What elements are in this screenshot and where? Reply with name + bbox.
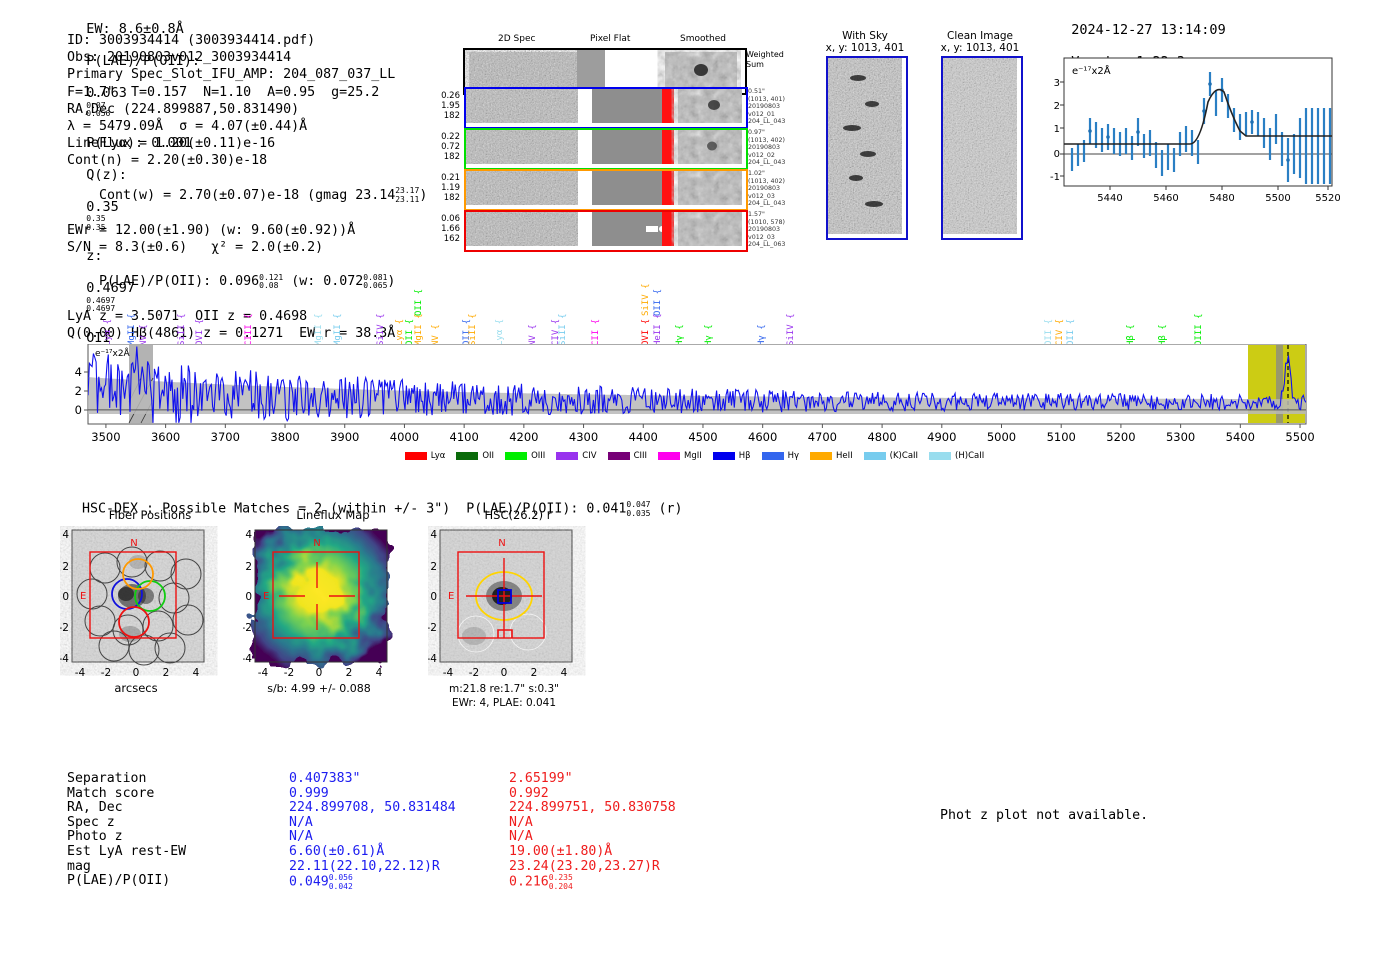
match-row-value-2: 0.2160.2350.204	[509, 874, 573, 891]
full-spectrum-chart[interactable]: Lyα {MgII {NV {SiII {OVI {CIII {MgII {Mg…	[0, 282, 1400, 467]
info-id: ID: 3003934414 (3003934414.pdf)	[67, 32, 427, 49]
line-marker-oiii: OIII {	[1194, 312, 1204, 346]
svg-text:5480: 5480	[1209, 193, 1234, 204]
fiber-row-left-stats: 0.06 1.66 162	[430, 214, 460, 244]
svg-text:2: 2	[346, 667, 353, 679]
compass-n-label: N	[313, 538, 320, 549]
match-row-value-1: 0.999	[289, 787, 509, 802]
svg-text:0: 0	[75, 403, 82, 417]
legend-swatch	[456, 452, 478, 460]
svg-text:4: 4	[561, 667, 568, 679]
svg-text:0: 0	[316, 667, 323, 679]
svg-text:3: 3	[1054, 78, 1060, 89]
spec2d-col-title-pixelflat: Pixel Flat	[590, 34, 630, 44]
match-table-row: Photo zN/AN/A	[67, 830, 676, 845]
svg-text:5520: 5520	[1315, 193, 1340, 204]
svg-text:3500: 3500	[91, 430, 120, 444]
compass-e-label: E	[263, 591, 269, 602]
fiber-row-meta: 0.51" (1013, 401) 20190803 v012_01 204_L…	[748, 88, 785, 126]
match-row-value-1: 0.407383"	[289, 772, 509, 787]
svg-text:0: 0	[501, 667, 508, 679]
panel-xlabel: arcsecs	[114, 681, 157, 695]
svg-text:-2: -2	[101, 667, 111, 679]
fiber-row-left-stats: 0.21 1.19 182	[430, 173, 460, 203]
svg-text:-2: -2	[284, 667, 294, 679]
match-table-row: RA, Dec224.899708, 50.831484224.899751, …	[67, 801, 676, 816]
svg-text:0: 0	[245, 591, 252, 603]
match-row-value-1: 224.899708, 50.831484	[289, 801, 509, 816]
line-fit-unit-label: e⁻¹⁷x2Å	[1072, 64, 1111, 77]
spectrum-legend: LyαOIIOIIICIVCIIIMgIIHβHγHeII(K)CaII(H)C…	[0, 445, 1400, 464]
svg-text:4800: 4800	[867, 430, 896, 444]
spec2d-col-title-smoothed: Smoothed	[680, 34, 726, 44]
compass-n-label: N	[498, 538, 505, 549]
match-row-key: Photo z	[67, 830, 289, 845]
svg-text:2: 2	[75, 384, 82, 398]
match-row-key: Spec z	[67, 816, 289, 831]
svg-text:-1: -1	[1050, 172, 1060, 183]
svg-text:4100: 4100	[450, 430, 479, 444]
legend-swatch	[608, 452, 630, 460]
panel-lineflux-map[interactable]: Lineflux Map N E 420 -2-4	[243, 508, 423, 716]
svg-text:0: 0	[62, 591, 69, 603]
line-marker-nv: NV {	[139, 312, 149, 346]
cutout-subtitle: x, y: 1013, 401	[815, 42, 915, 54]
svg-text:4600: 4600	[748, 430, 777, 444]
match-row-value-1: 22.11(22.10,22.12)R	[289, 860, 509, 875]
svg-text:-2: -2	[243, 622, 252, 634]
match-row-value-1: 6.60(±0.61)Å	[289, 845, 509, 860]
match-row-value-2: 19.00(±1.80)Å	[509, 845, 612, 860]
info-ewr: EWr = 12.00(±1.90) (w: 9.60(±0.92))Å	[67, 222, 427, 239]
svg-text:0: 0	[430, 591, 437, 603]
line-marker-siiv: SiIV {	[376, 312, 386, 346]
svg-text:2: 2	[245, 561, 252, 573]
svg-text:4400: 4400	[629, 430, 658, 444]
weighted-sum-image	[465, 50, 741, 89]
cutout-with-sky[interactable]: With Sky x, y: 1013, 401	[815, 30, 915, 240]
line-marker-mgii: MgII {	[314, 312, 324, 346]
match-table-row: mag22.11(22.10,22.12)R23.24(23.20,23.27)…	[67, 860, 676, 875]
match-row-key: Est LyA rest-EW	[67, 845, 289, 860]
legend-swatch	[864, 452, 886, 460]
legend-label: (K)CaII	[890, 451, 918, 461]
legend-label: MgII	[684, 451, 702, 461]
svg-text:5500: 5500	[1285, 430, 1314, 444]
legend-swatch	[810, 452, 832, 460]
match-table: Separation0.407383"2.65199"Match score0.…	[67, 772, 676, 891]
line-marker-mgii: MgII {	[127, 312, 137, 346]
fiber-row-image	[464, 169, 748, 211]
svg-text:5400: 5400	[1226, 430, 1255, 444]
legend-label: Hγ	[788, 451, 799, 461]
svg-text:-4: -4	[428, 653, 437, 665]
line-marker-lyα: Lyα {	[495, 312, 505, 346]
legend-item-(h)caii: (H)CaII	[929, 451, 984, 461]
svg-text:4300: 4300	[569, 430, 598, 444]
fiber-positions-image: N E 420 -2-4 -4-20 24 arcsecs	[60, 526, 240, 716]
fiber-row-meta: 1.57" (1010, 578) 20190803 v012_03 204_L…	[748, 211, 785, 249]
fiber-row-meta: 0.97" (1013, 402) 20190803 v012_02 204_L…	[748, 129, 785, 167]
compass-n-label: N	[130, 538, 137, 549]
legend-swatch	[405, 452, 427, 460]
legend-item-hγ: Hγ	[762, 451, 799, 461]
svg-text:-4: -4	[75, 667, 86, 679]
cutout-subtitle: x, y: 1013, 401	[930, 42, 1030, 54]
match-row-value-2: 0.992	[509, 787, 549, 802]
legend-label: Hβ	[739, 451, 751, 461]
legend-item-oii: OII	[456, 451, 494, 461]
svg-text:-2: -2	[469, 667, 479, 679]
svg-text:4: 4	[245, 529, 252, 541]
panel-fiber-positions[interactable]: Fiber Positions N E	[60, 508, 240, 716]
match-row-key: Match score	[67, 787, 289, 802]
svg-text:2: 2	[430, 561, 437, 573]
match-row-value-2: N/A	[509, 830, 533, 845]
panel-xlabel2: EWr: 4, PLAE: 0.041	[452, 697, 556, 709]
svg-text:2: 2	[62, 561, 69, 573]
legend-label: Lyα	[431, 451, 446, 461]
legend-item-oiii: OIII	[505, 451, 545, 461]
timestamp: 2024-12-27 13:14:09	[1071, 22, 1225, 38]
match-row-key: Separation	[67, 772, 289, 787]
line-marker-oii: OII {	[414, 282, 424, 316]
info-radec: RA,Dec (224.899887,50.831490)	[67, 101, 427, 118]
svg-text:4: 4	[430, 529, 437, 541]
line-marker-mgii: MgII {	[414, 312, 424, 346]
info-lineflux: LineFlux = 1.20(±0.11)e-16	[67, 135, 427, 152]
svg-text:3800: 3800	[270, 430, 299, 444]
line-marker-hγ: Hγ {	[704, 312, 714, 346]
info-sn-chi2: S/N = 8.3(±0.6) χ² = 2.0(±0.2)	[67, 239, 427, 256]
line-marker-nv: NV {	[431, 312, 441, 346]
compass-e-label: E	[448, 591, 454, 602]
line-marker-oii: OII {	[1066, 312, 1076, 346]
legend-item-mgii: MgII	[658, 451, 702, 461]
panel-xlabel: m:21.8 re:1.7" s:0.3"	[449, 683, 559, 695]
svg-text:5200: 5200	[1106, 430, 1135, 444]
fiber-row-image	[464, 210, 748, 252]
emission-line-markers: Lyα {MgII {NV {SiII {OVI {CIII {MgII {Mg…	[0, 282, 1400, 350]
fiber-row-left-stats: 0.22 0.72 182	[430, 132, 460, 162]
line-marker-siiv: SiIV {	[786, 312, 796, 346]
line-marker-civ: CIV {	[1055, 312, 1065, 346]
match-table-row: Match score0.9990.992	[67, 787, 676, 802]
svg-text:5100: 5100	[1047, 430, 1076, 444]
line-marker-siii: SiII {	[468, 312, 478, 346]
match-row-value-2: 23.24(23.20,23.27)R	[509, 860, 660, 875]
legend-label: OIII	[531, 451, 545, 461]
cutout-title: With Sky	[815, 30, 915, 42]
svg-text:2: 2	[531, 667, 538, 679]
legend-swatch	[658, 452, 680, 460]
svg-text:5300: 5300	[1166, 430, 1195, 444]
line-marker-lyα: Lyα {	[103, 312, 113, 346]
line-marker-mgii: MgII {	[333, 312, 343, 346]
lineflux-map-image: N E 420 -2-4 -4-20 24 s/b: 4.99 +/- 0.08…	[243, 526, 423, 716]
match-row-value-1: N/A	[289, 816, 509, 831]
panel-hsc-r[interactable]: HSC(26.2) r N E 420 -2-4 -4-20 24 m:21.8…	[428, 508, 608, 726]
line-marker-nv: NV {	[528, 312, 538, 346]
spec2d-col-title-2dspec: 2D Spec	[498, 34, 535, 44]
line-marker-oii: OII {	[653, 282, 663, 316]
svg-text:-4: -4	[258, 667, 269, 679]
svg-text:-4: -4	[243, 653, 252, 665]
legend-swatch	[556, 452, 578, 460]
svg-text:0: 0	[133, 667, 140, 679]
match-table-row: Separation0.407383"2.65199"	[67, 772, 676, 787]
match-row-value-2: N/A	[509, 816, 533, 831]
info-obs: Obs: 20190803v012_3003934414	[67, 49, 427, 66]
line-marker-ovi: OVI {	[195, 312, 205, 346]
hsc-r-image: N E 420 -2-4 -4-20 24 m:21.8 re:1.7" s:0…	[428, 526, 608, 726]
panel-title: Fiber Positions	[60, 508, 240, 522]
match-row-key: mag	[67, 860, 289, 875]
line-marker-siiv: SiIV {	[641, 282, 651, 316]
svg-text:2: 2	[163, 667, 170, 679]
svg-text:-4: -4	[60, 653, 69, 665]
info-cont-n: Cont(n) = 2.20(±0.30)e-18	[67, 152, 427, 169]
match-table-row: Spec zN/AN/A	[67, 816, 676, 831]
svg-text:-4: -4	[443, 667, 454, 679]
svg-text:0: 0	[1054, 149, 1060, 160]
cutout-clean-image[interactable]: Clean Image x, y: 1013, 401	[930, 30, 1030, 240]
legend-item-civ: CIV	[556, 451, 596, 461]
compass-e-label: E	[80, 591, 86, 602]
line-fit-svg: 32 10-1 54405460 548055005520	[1040, 56, 1340, 221]
svg-text:2: 2	[1054, 101, 1060, 112]
match-row-key: P(LAE)/P(OII)	[67, 874, 289, 891]
legend-item-ciii: CIII	[608, 451, 647, 461]
svg-text:4: 4	[75, 365, 82, 379]
fiber-row-image	[464, 87, 748, 129]
legend-swatch	[505, 452, 527, 460]
legend-item-hβ: Hβ	[713, 451, 751, 461]
svg-text:4700: 4700	[808, 430, 837, 444]
svg-text:4: 4	[376, 667, 383, 679]
info-lambda: λ = 5479.09Å σ = 4.07(±0.44)Å	[67, 118, 427, 135]
info-primary-spec: Primary Spec_Slot_IFU_AMP: 204_087_037_L…	[67, 66, 427, 83]
cutout-title: Clean Image	[930, 30, 1030, 42]
line-marker-ovi: OVI {	[641, 312, 651, 346]
match-row-value-1: 0.0490.0560.042	[289, 874, 509, 891]
line-marker-hγ: Hγ {	[757, 312, 767, 346]
fiber-row-image	[464, 128, 748, 170]
legend-label: CIV	[582, 451, 596, 461]
svg-text:4: 4	[193, 667, 200, 679]
svg-text:-2: -2	[428, 622, 437, 634]
line-marker-siii: SiII {	[558, 312, 568, 346]
match-row-value-2: 2.65199"	[509, 772, 573, 787]
svg-text:4200: 4200	[509, 430, 538, 444]
panel-title: Lineflux Map	[243, 508, 423, 522]
line-marker-siii: SiII {	[177, 312, 187, 346]
svg-text:5460: 5460	[1153, 193, 1178, 204]
svg-text:4900: 4900	[927, 430, 956, 444]
svg-text:3600: 3600	[151, 430, 180, 444]
legend-item-heii: HeII	[810, 451, 853, 461]
line-marker-cii: CII {	[591, 312, 601, 346]
svg-text:4000: 4000	[390, 430, 419, 444]
svg-text:-2: -2	[60, 622, 69, 634]
legend-swatch	[762, 452, 784, 460]
svg-text:5000: 5000	[987, 430, 1016, 444]
line-fit-plot[interactable]: 32 10-1 54405460 548055005520	[1040, 56, 1340, 221]
legend-item-lyα: Lyα	[405, 451, 446, 461]
photz-unavailable-message: Phot z plot not available.	[940, 808, 1148, 823]
line-marker-lyα: Lyα {	[395, 312, 405, 346]
line-marker-ciii: CIII {	[244, 312, 254, 346]
match-row-value-2: 224.899751, 50.830758	[509, 801, 676, 816]
legend-label: CIII	[634, 451, 647, 461]
svg-text:3700: 3700	[211, 430, 240, 444]
legend-swatch	[929, 452, 951, 460]
spectrum-unit-label: e⁻¹⁷x2Å	[95, 347, 131, 359]
weighted-sum-label: Weighted Sum	[746, 50, 784, 70]
svg-text:1: 1	[1054, 124, 1060, 135]
panel-xlabel: s/b: 4.99 +/- 0.088	[267, 682, 371, 695]
info-seeing: F=1.7" T=0.157 N=1.10 A=0.95 g=25.2	[67, 84, 427, 101]
legend-label: OII	[482, 451, 494, 461]
legend-label: (H)CaII	[955, 451, 984, 461]
info-cont-w: Cont(w) = 2.70(±0.07)e-18 (gmag 23.1423.…	[67, 170, 427, 222]
legend-swatch	[713, 452, 735, 460]
svg-text:5440: 5440	[1097, 193, 1122, 204]
panel-title: HSC(26.2) r	[428, 508, 608, 522]
match-table-row: P(LAE)/P(OII)0.0490.0560.0420.2160.2350.…	[67, 874, 676, 891]
line-marker-hβ: Hβ {	[1126, 312, 1136, 346]
match-table-row: Est LyA rest-EW6.60(±0.61)Å19.00(±1.80)Å	[67, 845, 676, 860]
svg-text:3900: 3900	[330, 430, 359, 444]
svg-text:4500: 4500	[688, 430, 717, 444]
match-row-value-1: N/A	[289, 830, 509, 845]
line-marker-hβ: Hβ {	[1158, 312, 1168, 346]
svg-text:5500: 5500	[1265, 193, 1290, 204]
fiber-row-left-stats: 0.26 1.95 182	[430, 91, 460, 121]
svg-text:4: 4	[62, 529, 69, 541]
legend-item-(k)caii: (K)CaII	[864, 451, 918, 461]
match-row-key: RA, Dec	[67, 801, 289, 816]
line-marker-hγ: Hγ {	[675, 312, 685, 346]
fiber-row-meta: 1.02" (1013, 402) 20190803 v012_03 204_L…	[748, 170, 785, 208]
full-spectrum-svg: 024 e⁻¹⁷x2Å 3500360037003800390040004100…	[0, 344, 1400, 444]
line-marker-oii: OII {	[1044, 312, 1054, 346]
line-marker-heii: HeII {	[653, 312, 663, 346]
legend-label: HeII	[836, 451, 853, 461]
